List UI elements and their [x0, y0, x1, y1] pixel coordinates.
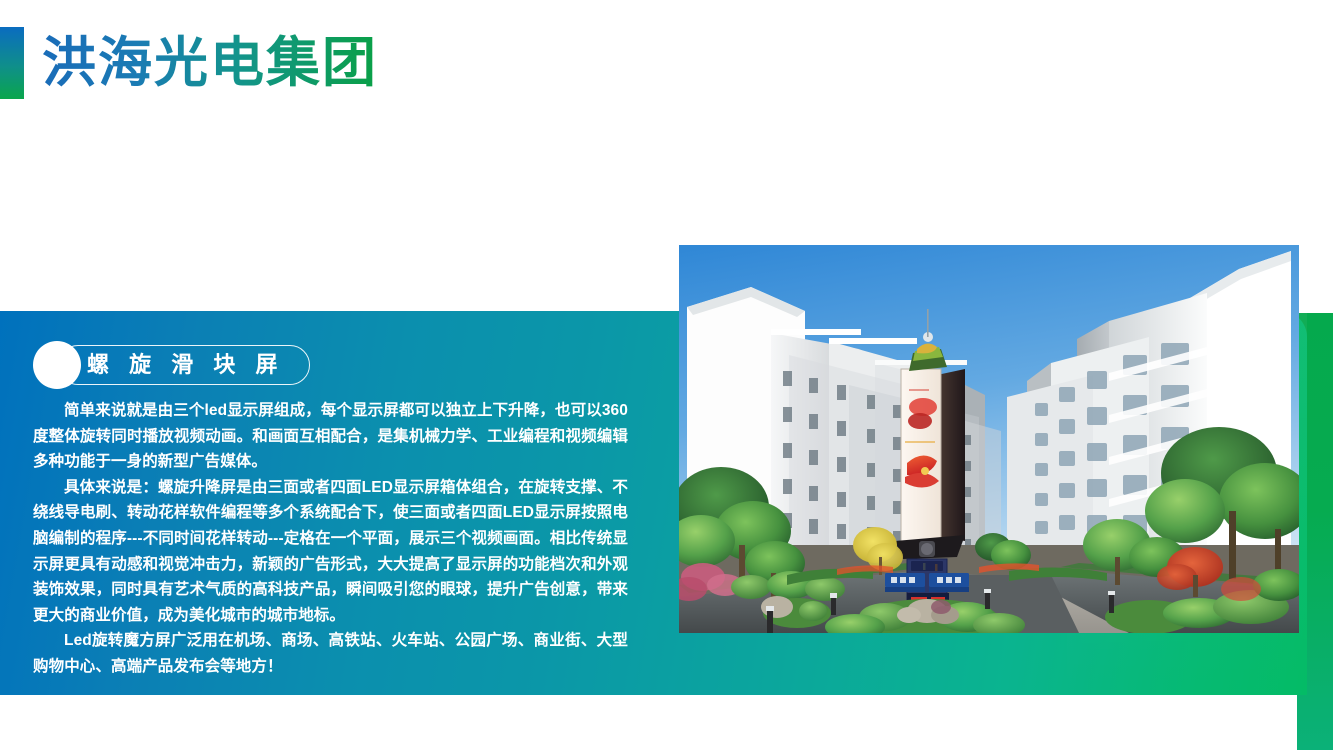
- header-accent-bar: [0, 27, 24, 99]
- paragraph-3: Led旋转魔方屏广泛用在机场、商场、高铁站、火车站、公园广场、商业街、大型购物中…: [33, 628, 628, 679]
- page-header: 洪海光电集团: [0, 0, 1333, 120]
- body-copy: 简单来说就是由三个led显示屏组成，每个显示屏都可以独立上下升降，也可以360度…: [33, 398, 628, 680]
- scene-photo: （洪海）光电 Honghai Photoelectric Group （洪海）光…: [679, 245, 1299, 633]
- section-title: 螺 旋 滑 块 屏: [87, 349, 284, 381]
- company-title: 洪海光电集团: [42, 32, 378, 94]
- section-badge: 螺 旋 滑 块 屏: [33, 341, 323, 389]
- scene-illustration: [679, 245, 1299, 633]
- badge-bullet-circle: [33, 341, 81, 389]
- paragraph-2: 具体来说是：螺旋升降屏是由三面或者四面LED显示屏箱体组合，在旋转支撑、不绕线导…: [33, 475, 628, 629]
- paragraph-1: 简单来说就是由三个led显示屏组成，每个显示屏都可以独立上下升降，也可以360度…: [33, 398, 628, 475]
